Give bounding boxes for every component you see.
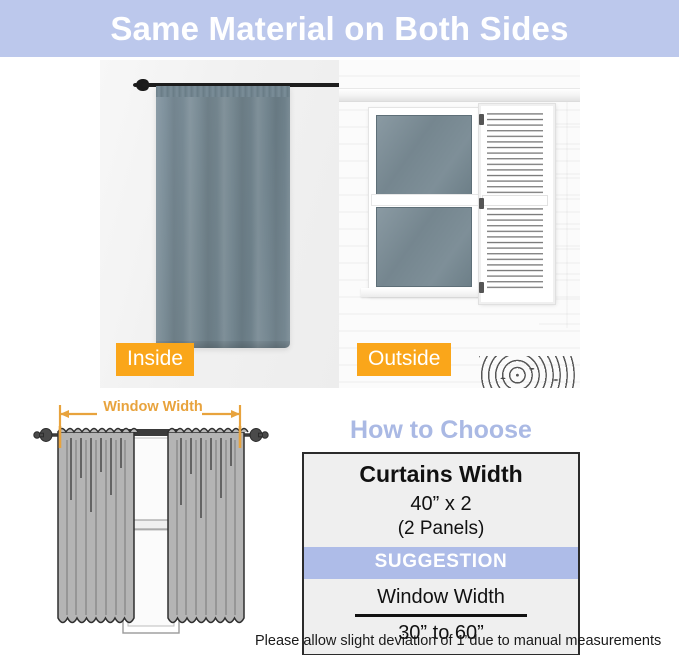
window-pane-bottom	[376, 207, 472, 287]
curtains-width-heading: Curtains Width	[304, 454, 578, 490]
shutter-rail	[483, 196, 547, 205]
shutter-hinge-middle	[479, 198, 484, 209]
panel-count-value: (2 Panels)	[304, 517, 578, 547]
diagram-curtain-right	[168, 429, 248, 623]
shutter-hinge-top	[479, 114, 484, 125]
shutter-louvers-bottom	[487, 206, 543, 292]
fraction-bar	[355, 614, 527, 617]
measurement-disclaimer: Please allow slight deviation of 1”due t…	[255, 633, 675, 650]
measure-arrow-left	[60, 410, 69, 418]
diagram-finial-right	[250, 429, 268, 442]
diagram-curtain-left	[58, 429, 138, 623]
label-inside: Inside	[116, 343, 194, 376]
suggestion-numerator: Window Width	[304, 585, 578, 612]
window-mullion	[372, 195, 478, 205]
shutter-hinge-bottom	[479, 282, 484, 293]
shrub	[479, 356, 575, 388]
label-outside: Outside	[357, 343, 451, 376]
how-to-choose-title: How to Choose	[302, 418, 580, 443]
suggestion-heading: SUGGESTION	[304, 547, 578, 579]
curtain-panel-photo	[156, 86, 290, 348]
measure-arrow-right	[231, 410, 240, 418]
diagram-finial-left	[34, 429, 52, 442]
header-banner: Same Material on Both Sides	[0, 0, 679, 57]
curtains-width-value: 40” x 2	[304, 490, 578, 517]
shutter-louvers-top	[487, 111, 543, 195]
window-pane-top	[376, 115, 472, 195]
window-header-trim	[339, 88, 580, 102]
exterior-window	[369, 108, 481, 296]
window-width-diagram: Window Width	[22, 400, 284, 650]
photo-outside: Outside	[339, 60, 580, 388]
page-title: Same Material on Both Sides	[110, 12, 568, 45]
how-to-choose-panel: How to Choose Curtains Width 40” x 2 (2 …	[302, 418, 580, 655]
photo-inside: Inside	[100, 60, 339, 388]
window-sill	[361, 288, 487, 297]
window-shutter	[479, 104, 555, 304]
size-guide-table: Curtains Width 40” x 2 (2 Panels) SUGGES…	[302, 452, 580, 655]
infographic-page: Same Material on Both Sides Inside	[0, 0, 679, 655]
curtain-rod-pocket	[156, 86, 290, 97]
photo-comparison-row: Inside Outside	[100, 60, 580, 388]
